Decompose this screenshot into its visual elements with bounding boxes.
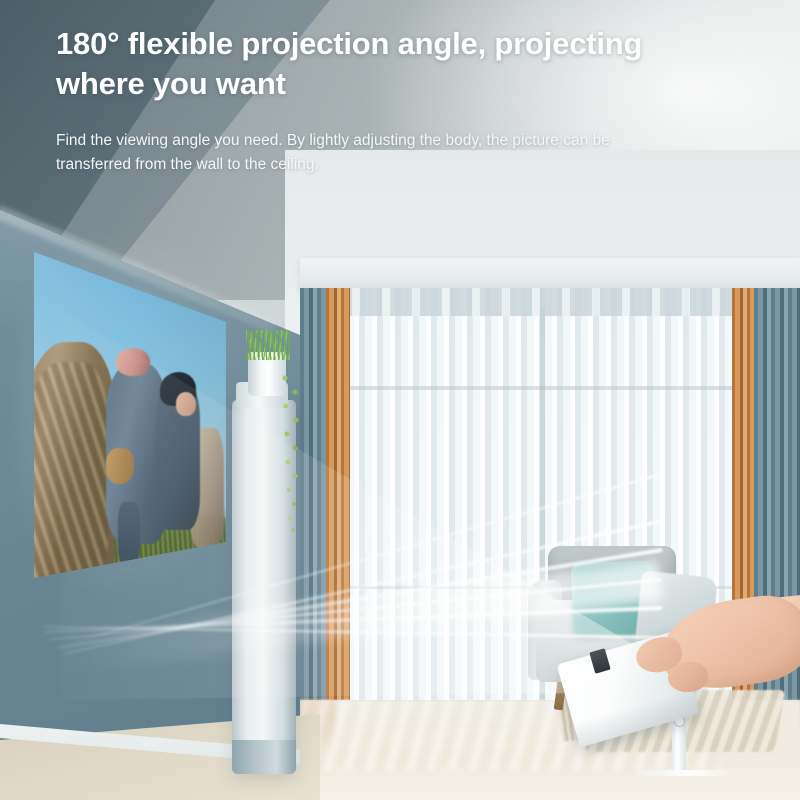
projector-stand-base <box>636 770 728 776</box>
page-title: 180° flexible projection angle, projecti… <box>56 24 728 103</box>
marketing-copy-block: 180° flexible projection angle, projecti… <box>56 24 756 176</box>
window-soffit <box>300 258 800 292</box>
curtain-pleat-header <box>300 288 800 316</box>
grass-plant-icon <box>246 330 290 360</box>
page-subtitle: Find the viewing angle you need. By ligh… <box>56 129 678 176</box>
accent-strip-left-tan <box>326 288 350 718</box>
window-mullion-horizontal <box>300 386 800 390</box>
trailing-vine-icon <box>279 368 305 538</box>
product-feature-screenshot: 180° flexible projection angle, projecti… <box>0 0 800 800</box>
pedestal-base <box>232 740 296 774</box>
